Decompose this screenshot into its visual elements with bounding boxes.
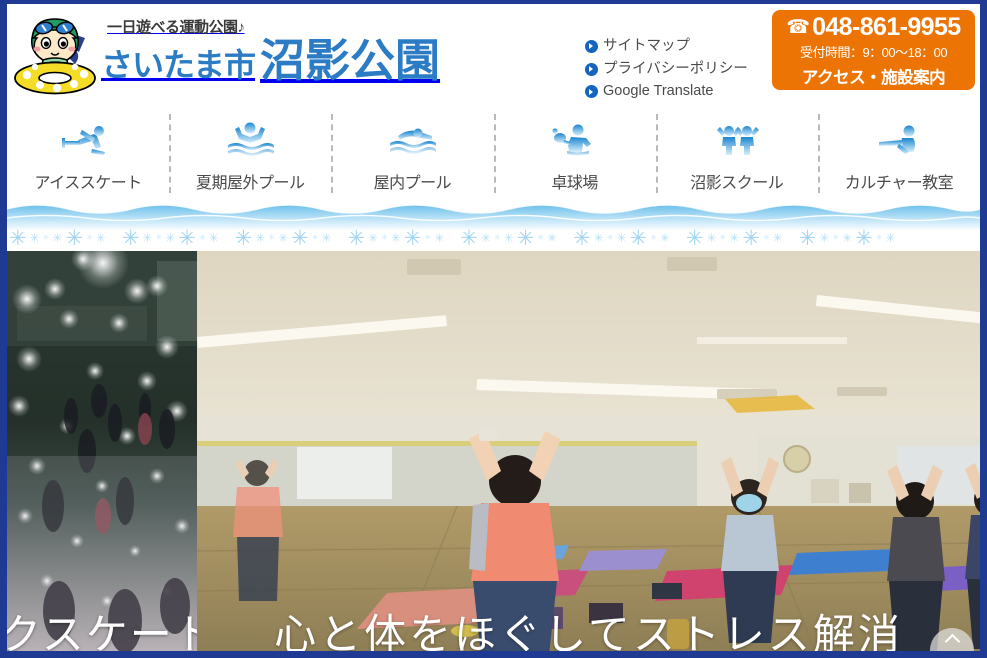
brand-text-block: 一日遊べる運動公園♪ さいたま市 沼影公園 (101, 19, 440, 86)
hero-slide-previous[interactable]: ックスケート (7, 251, 197, 656)
nav-label: カルチャー教室 (845, 169, 953, 193)
main-navigation: アイススケート 夏期屋外プール (7, 105, 980, 201)
utility-links: サイトマップ プライバシーポリシー Google Translate (585, 37, 748, 102)
site-logo-link[interactable]: 一日遊べる運動公園♪ さいたま市 沼影公園 (13, 8, 440, 96)
mascot-icon (13, 8, 97, 96)
site-header: 一日遊べる運動公園♪ さいたま市 沼影公園 サイトマップ プライバシーポリシー … (7, 4, 980, 105)
snowflake-icon: ✳ (660, 232, 670, 244)
snowflake-icon: ✳ (547, 232, 557, 244)
snowflake-icon: ✳ (321, 232, 331, 244)
hero-carousel[interactable]: ックスケート (7, 251, 980, 656)
snowflake-icon: ✳ (312, 234, 319, 242)
snowflake-icon: ✳ (381, 234, 388, 242)
chevron-up-icon (944, 634, 960, 650)
site-title-city: さいたま市 (101, 40, 255, 86)
snowflake-icon: ✳ (209, 232, 219, 244)
ice-skater-icon (58, 118, 118, 160)
reception-hours: 受付時間：9：00〜18：00 (800, 42, 947, 61)
utility-link-label: サイトマップ (603, 37, 690, 57)
snowflake-icon: ✳ (391, 232, 401, 244)
snowflake-icon: ✳ (86, 234, 93, 242)
snowflake-icon: ✳ (268, 234, 275, 242)
snowflake-icon: ✳ (616, 232, 626, 244)
snowflake-icon: ✳ (65, 228, 83, 249)
nav-item-ice-skate[interactable]: アイススケート (7, 106, 169, 201)
table-tennis-icon (545, 118, 605, 160)
snowflake-group: ✳✳✳✳✳✳✳ (573, 228, 670, 249)
site-tagline: 一日遊べる運動公園♪ (107, 19, 245, 36)
snowflake-icon: ✳ (122, 228, 140, 249)
telephone-icon: ☎ (786, 18, 810, 37)
snowflake-group: ✳✳✳✳✳✳✳ (9, 228, 106, 249)
contact-access-button[interactable]: ☎ 048-861-9955 受付時間：9：00〜18：00 アクセス・施設案内 (772, 10, 975, 90)
snowflake-icon: ✳ (165, 232, 175, 244)
snowflake-group: ✳✳✳✳✳✳✳ (799, 228, 896, 249)
arrow-circle-icon (585, 85, 598, 98)
hero-slide-active[interactable]: 心と体をほぐしてストレス解消 (197, 251, 980, 656)
culture-class-icon (869, 118, 929, 160)
utility-link-privacy-policy[interactable]: プライバシーポリシー (585, 60, 748, 80)
snowflake-icon: ✳ (504, 232, 514, 244)
decorative-wave-snow-band: ✳✳✳✳✳✳✳ ✳✳✳✳✳✳✳ ✳✳✳✳✳✳✳ ✳✳✳✳✳✳✳ ✳✳✳✳✳✳✳ … (7, 201, 980, 251)
school-people-icon (707, 118, 767, 160)
snowflake-icon: ✳ (720, 234, 727, 242)
snowflake-icon: ✳ (235, 228, 253, 249)
snowflake-icon: ✳ (368, 232, 378, 244)
snowflake-group: ✳✳✳✳✳✳✳ (460, 228, 557, 249)
arrow-circle-icon (585, 40, 598, 53)
site-title: さいたま市 沼影公園 (101, 38, 440, 86)
nav-item-summer-outdoor-pool[interactable]: 夏期屋外プール (169, 106, 331, 201)
snowflake-icon: ✳ (607, 234, 614, 242)
snowflake-icon: ✳ (832, 234, 839, 242)
snowflake-icon: ✳ (199, 234, 206, 242)
snowflake-icon: ✳ (404, 228, 422, 249)
indoor-pool-icon (382, 118, 442, 160)
snowflake-icon: ✳ (9, 228, 27, 249)
nav-item-numakage-school[interactable]: 沼影スクール (656, 106, 818, 201)
snowflake-icon: ✳ (424, 234, 431, 242)
utility-link-label: プライバシーポリシー (603, 60, 748, 80)
snowflake-group: ✳✳✳✳✳✳✳ (347, 228, 444, 249)
snowflake-icon: ✳ (594, 232, 604, 244)
snowflake-row: ✳✳✳✳✳✳✳ ✳✳✳✳✳✳✳ ✳✳✳✳✳✳✳ ✳✳✳✳✳✳✳ ✳✳✳✳✳✳✳ … (7, 225, 980, 251)
snowflake-icon: ✳ (773, 232, 783, 244)
snowflake-icon: ✳ (742, 228, 760, 249)
snowflake-icon: ✳ (460, 228, 478, 249)
snowflake-icon: ✳ (819, 232, 829, 244)
phone-row: ☎ 048-861-9955 (786, 15, 960, 40)
snowflake-icon: ✳ (178, 228, 196, 249)
nav-label: 沼影スクール (690, 169, 783, 193)
snowflake-icon: ✳ (347, 228, 365, 249)
snowflake-icon: ✳ (517, 228, 535, 249)
snowflake-icon: ✳ (481, 232, 491, 244)
snowflake-icon: ✳ (291, 228, 309, 249)
snowflake-group: ✳✳✳✳✳✳✳ (122, 228, 219, 249)
snowflake-icon: ✳ (630, 228, 648, 249)
snowflake-icon: ✳ (537, 234, 544, 242)
outdoor-pool-icon (220, 118, 280, 160)
utility-link-sitemap[interactable]: サイトマップ (585, 37, 748, 57)
page-root: 一日遊べる運動公園♪ さいたま市 沼影公園 サイトマップ プライバシーポリシー … (0, 0, 987, 658)
snowflake-icon: ✳ (842, 232, 852, 244)
snowflake-icon: ✳ (876, 234, 883, 242)
utility-link-google-translate[interactable]: Google Translate (585, 82, 748, 102)
snowflake-icon: ✳ (142, 232, 152, 244)
snowflake-icon: ✳ (855, 228, 873, 249)
snowflake-icon: ✳ (650, 234, 657, 242)
utility-link-label: Google Translate (603, 82, 713, 102)
nav-item-table-tennis[interactable]: 卓球場 (494, 106, 656, 201)
yoga-class-indoor-studio-image (197, 251, 980, 656)
site-title-park: 沼影公園 (260, 38, 440, 83)
snowflake-icon: ✳ (799, 228, 817, 249)
nav-label: 夏期屋外プール (196, 169, 305, 193)
snowflake-icon: ✳ (278, 232, 288, 244)
snowflake-icon: ✳ (52, 232, 62, 244)
nav-label: 屋内プール (374, 169, 452, 193)
snowflake-icon: ✳ (155, 234, 162, 242)
access-label: アクセス・施設案内 (802, 64, 945, 88)
snowflake-icon: ✳ (885, 232, 895, 244)
snowflake-icon: ✳ (573, 228, 591, 249)
snowflake-icon: ✳ (30, 232, 40, 244)
snowflake-icon: ✳ (434, 232, 444, 244)
snowflake-icon: ✳ (706, 232, 716, 244)
nav-item-culture-class[interactable]: カルチャー教室 (818, 106, 980, 201)
snowflake-icon: ✳ (43, 234, 50, 242)
nav-item-indoor-pool[interactable]: 屋内プール (331, 106, 493, 201)
snowflake-icon: ✳ (729, 232, 739, 244)
phone-number: 048-861-9955 (812, 15, 961, 40)
arrow-circle-icon (585, 63, 598, 76)
snowflake-icon: ✳ (686, 228, 704, 249)
nav-label: 卓球場 (551, 169, 598, 193)
snowflake-group: ✳✳✳✳✳✳✳ (235, 228, 332, 249)
nav-label: アイススケート (34, 169, 141, 193)
snowflake-icon: ✳ (255, 232, 265, 244)
night-ice-skating-rink-image (7, 251, 197, 656)
snowflake-icon: ✳ (763, 234, 770, 242)
snowflake-icon: ✳ (96, 232, 106, 244)
snowflake-group: ✳✳✳✳✳✳✳ (686, 228, 783, 249)
snowflake-icon: ✳ (494, 234, 501, 242)
